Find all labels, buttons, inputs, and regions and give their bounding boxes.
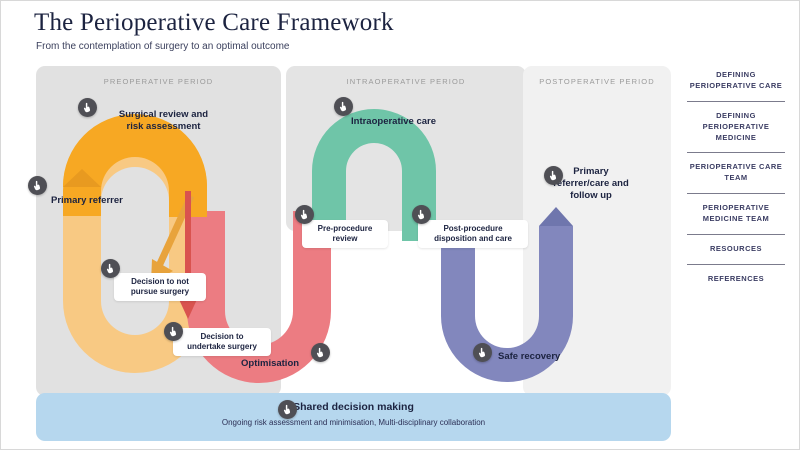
callout-decision-undertake-surgery[interactable]: Decision to undertake surgery xyxy=(173,328,271,356)
shared-decision-making-title: Shared decision making xyxy=(36,401,671,413)
click-hand-icon-safe-recovery[interactable] xyxy=(473,343,492,362)
click-hand-icon xyxy=(282,404,293,415)
sidebar-item-references[interactable]: REFERENCES xyxy=(681,265,791,294)
click-hand-icon-optimisation[interactable] xyxy=(311,343,330,362)
click-hand-icon xyxy=(32,180,43,191)
label-primary-referrer: Primary referrer xyxy=(51,195,123,207)
label-safe-recovery: Safe recovery xyxy=(498,351,560,363)
sidebar-item-perioperative-care-team[interactable]: PERIOPERATIVE CARE TEAM xyxy=(681,153,791,193)
label-surgical-review: Surgical review and risk assessment xyxy=(96,109,231,133)
shape-decision-not-pursue-cut xyxy=(101,167,169,335)
click-hand-icon-primary-referrer[interactable] xyxy=(28,176,47,195)
sidebar-item-defining-perioperative-medicine[interactable]: DEFINING PERIOPERATIVE MEDICINE xyxy=(681,102,791,153)
click-hand-icon xyxy=(315,347,326,358)
click-hand-icon-decision-undertake[interactable] xyxy=(164,322,183,341)
click-hand-icon xyxy=(168,326,179,337)
click-hand-icon xyxy=(338,101,349,112)
click-hand-icon xyxy=(416,209,427,220)
label-intraoperative-care: Intraoperative care xyxy=(351,116,436,128)
click-hand-icon-post-procedure-disposition[interactable] xyxy=(412,205,431,224)
shape-followup-pennant xyxy=(539,207,573,226)
click-hand-icon xyxy=(299,209,310,220)
label-optimisation: Optimisation xyxy=(241,358,299,370)
click-hand-icon xyxy=(548,170,559,181)
callout-decision-not-pursue-surgery[interactable]: Decision to not pursue surgery xyxy=(114,273,206,301)
click-hand-icon-intraoperative-care[interactable] xyxy=(334,97,353,116)
click-hand-icon-decision-not-pursue[interactable] xyxy=(101,259,120,278)
shared-decision-making-bar: Shared decision making Ongoing risk asse… xyxy=(36,393,671,441)
click-hand-icon-primary-referrer-followup[interactable] xyxy=(544,166,563,185)
click-hand-icon xyxy=(477,347,488,358)
app-frame: The Perioperative Care Framework From th… xyxy=(0,0,800,450)
shared-decision-making-subtitle: Ongoing risk assessment and minimisation… xyxy=(36,418,671,427)
click-hand-icon xyxy=(105,263,116,274)
sidebar-item-defining-perioperative-care[interactable]: DEFINING PERIOPERATIVE CARE xyxy=(681,61,791,101)
click-hand-icon-surgical-review[interactable] xyxy=(78,98,97,117)
click-hand-icon-pre-procedure-review[interactable] xyxy=(295,205,314,224)
callout-pre-procedure-review[interactable]: Pre-procedure review xyxy=(302,220,388,248)
sidebar-item-perioperative-medicine-team[interactable]: PERIOPERATIVE MEDICINE TEAM xyxy=(681,194,791,234)
framework-diagram: PREOPERATIVE PERIOD INTRAOPERATIVE PERIO… xyxy=(1,1,681,451)
click-hand-icon-shared-decision-making[interactable] xyxy=(278,400,297,419)
sidebar-item-resources[interactable]: RESOURCES xyxy=(681,235,791,264)
sidebar-nav: DEFINING PERIOPERATIVE CARE DEFINING PER… xyxy=(681,61,791,294)
callout-post-procedure-disposition[interactable]: Post-procedure disposition and care xyxy=(418,220,528,248)
click-hand-icon xyxy=(82,102,93,113)
